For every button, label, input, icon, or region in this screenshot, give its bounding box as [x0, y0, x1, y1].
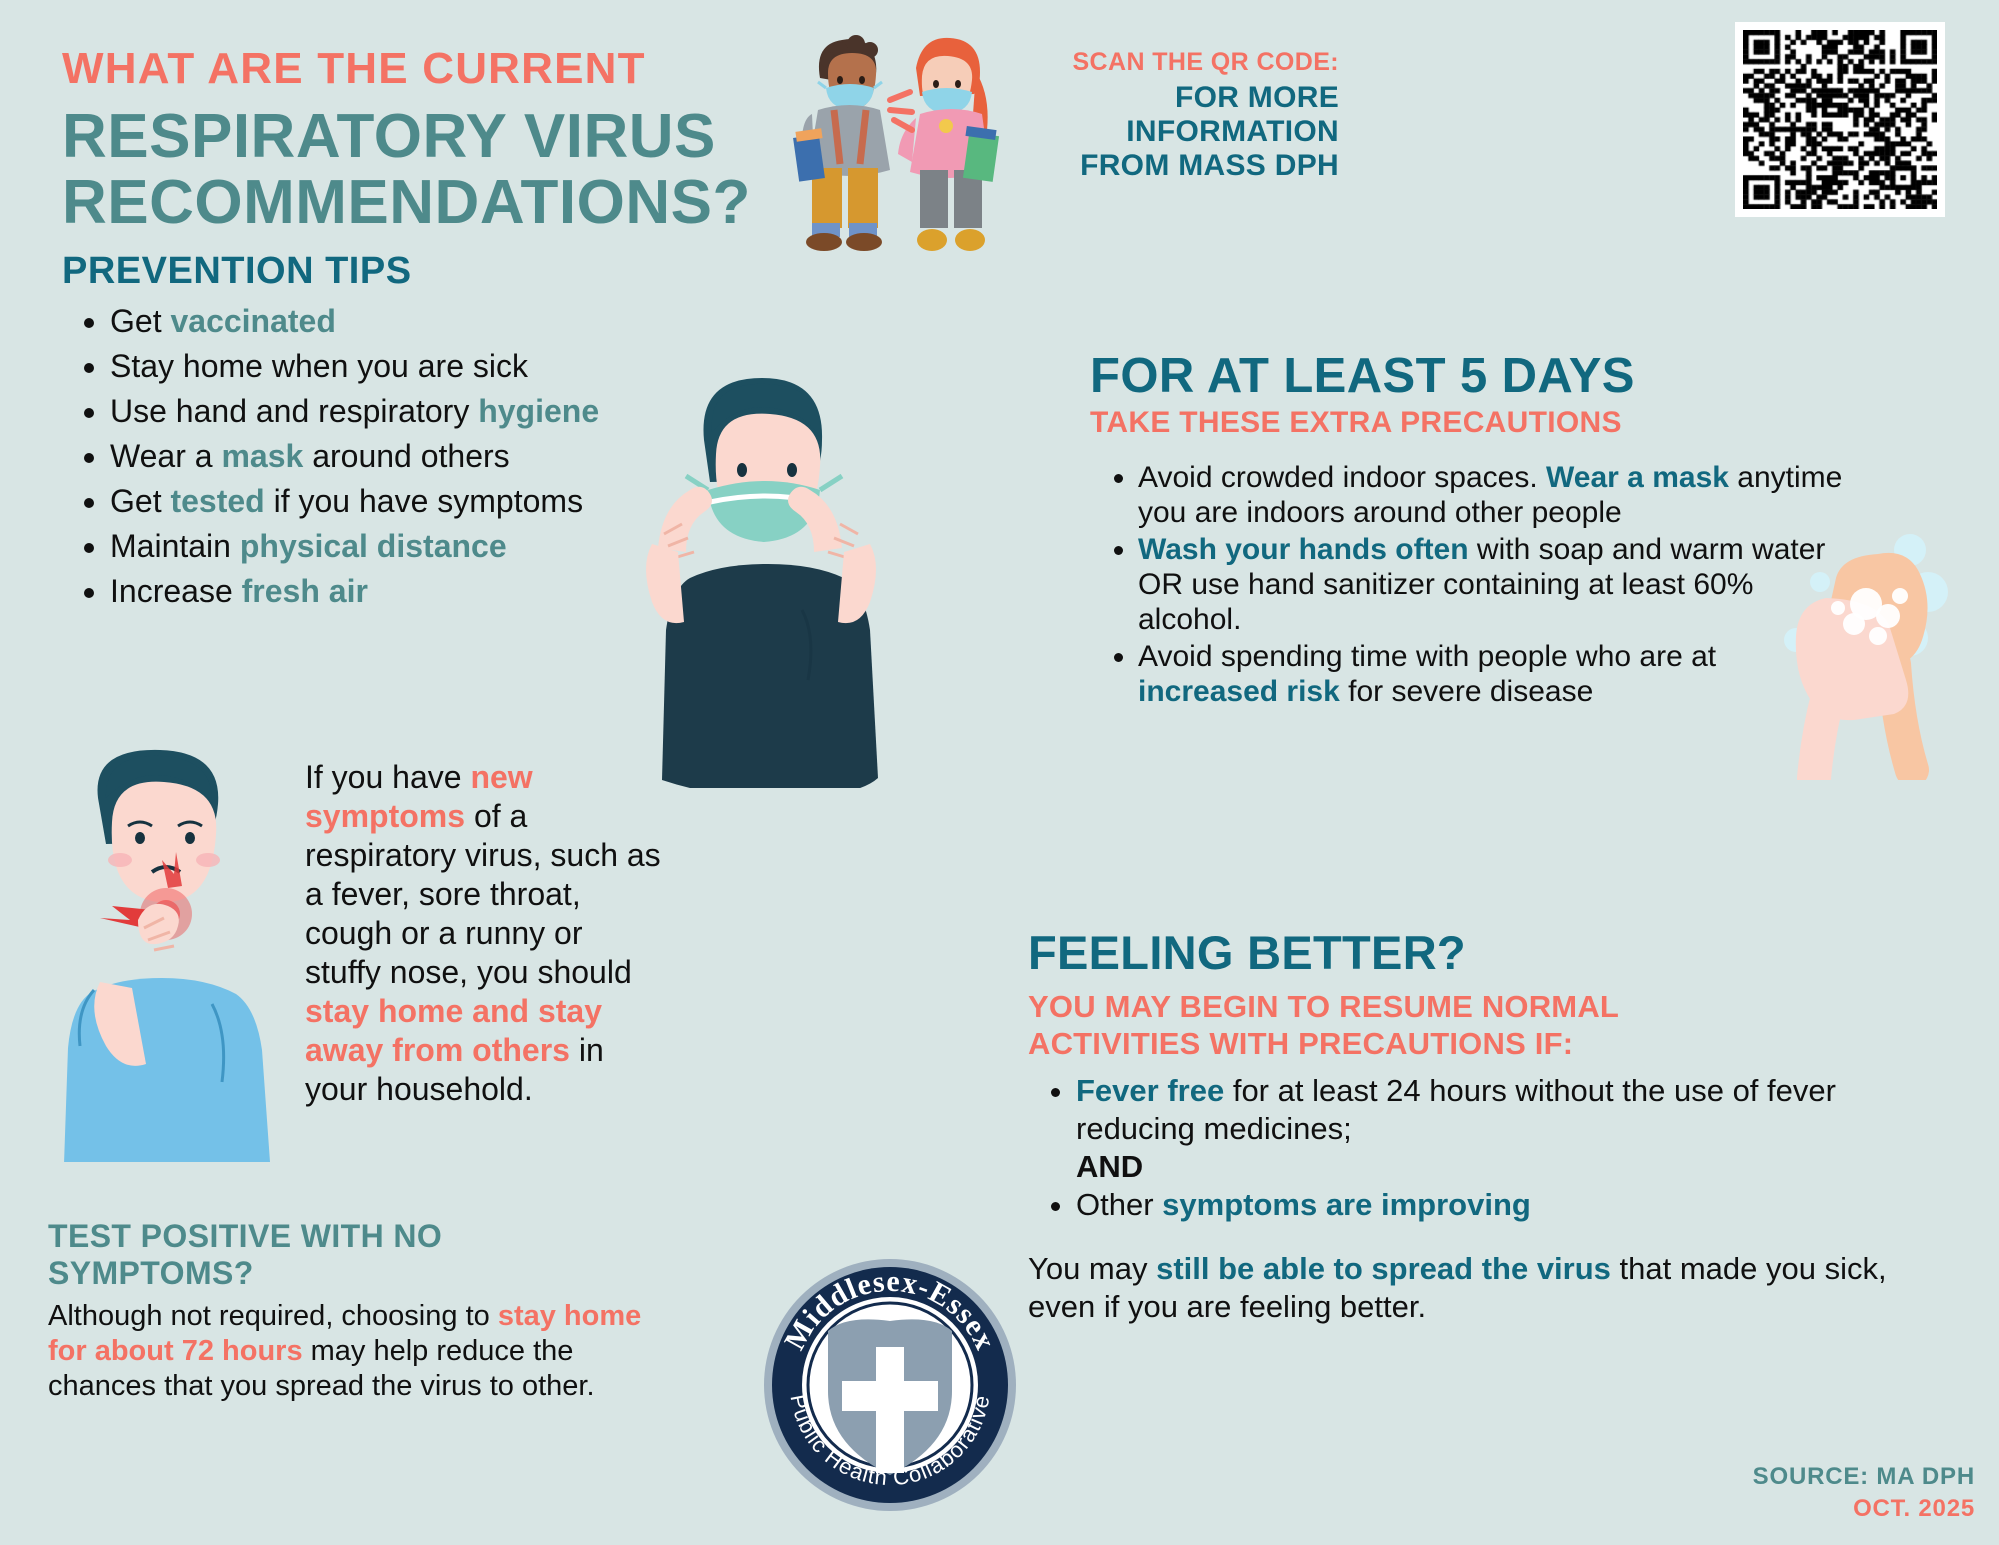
prevention-list-item: Use hand and respiratory hygiene [110, 391, 702, 431]
washing-hands-illustration [1760, 520, 1985, 780]
five-days-list: Avoid crowded indoor spaces. Wear a mask… [1090, 460, 1850, 709]
emphasis: physical distance [240, 528, 507, 564]
emphasis: Wash your hands often [1138, 533, 1469, 566]
emphasis: Fever free [1076, 1073, 1224, 1108]
prevention-heading: PREVENTION TIPS [62, 250, 702, 293]
emphasis: symptoms are improving [1162, 1187, 1531, 1222]
feeling-better-list: Fever free for at least 24 hours without… [1028, 1072, 1908, 1224]
emphasis: stay home for about 72 hours [48, 1300, 641, 1367]
test-positive-heading: TEST POSITIVE WITH NO SYMPTOMS? [48, 1218, 668, 1292]
feeling-better-section: FEELING BETTER? YOU MAY BEGIN TO RESUME … [1028, 925, 1908, 1326]
qr-info-line-2: INFORMATION [999, 115, 1339, 149]
feeling-better-heading: FEELING BETTER? [1028, 925, 1908, 980]
feeling-better-subheading: YOU MAY BEGIN TO RESUME NORMAL ACTIVITIE… [1028, 988, 1908, 1062]
prevention-list-item: Maintain physical distance [110, 526, 702, 566]
source-line-1: SOURCE: MA DPH [1753, 1463, 1975, 1491]
infographic-poster: WHAT ARE THE CURRENT RESPIRATORY VIRUS R… [0, 0, 1999, 1545]
qr-instruction-text: SCAN THE QR CODE: FOR MORE INFORMATION F… [999, 48, 1339, 183]
five-days-list-item: Wash your hands often with soap and warm… [1138, 532, 1850, 637]
conjunction-and: AND [1076, 1149, 1143, 1184]
five-days-list-item: Avoid spending time with people who are … [1138, 639, 1850, 709]
emphasis: mask [221, 438, 303, 474]
emphasis: Wear a mask [1546, 461, 1729, 494]
emphasis: tested [170, 483, 264, 519]
five-days-heading: FOR AT LEAST 5 DAYS [1090, 348, 1850, 404]
qr-info-text: FOR MORE INFORMATION FROM MASS DPH [999, 81, 1339, 183]
test-positive-section: TEST POSITIVE WITH NO SYMPTOMS? Although… [48, 1218, 668, 1404]
feeling-better-closing-text: You may still be able to spread the viru… [1028, 1250, 1908, 1326]
symptoms-paragraph: If you have new symptoms of a respirator… [305, 758, 665, 1109]
emphasis: vaccinated [170, 303, 335, 339]
prevention-tips-section: PREVENTION TIPS Get vaccinatedStay home … [62, 250, 702, 616]
prevention-list-item: Get tested if you have symptoms [110, 481, 702, 521]
qr-info-line-1: FOR MORE [999, 81, 1339, 115]
test-positive-body: Although not required, choosing to stay … [48, 1299, 668, 1404]
two-students-masks-illustration [770, 18, 1020, 263]
emphasis: new symptoms [305, 759, 533, 834]
prevention-list: Get vaccinatedStay home when you are sic… [62, 301, 702, 611]
emphasis: stay home and stay away from others [305, 993, 602, 1068]
source-line-2: OCT. 2025 [1753, 1495, 1975, 1523]
emphasis: hygiene [478, 393, 599, 429]
test-positive-heading-line-2: SYMPTOMS? [48, 1255, 254, 1291]
boy-with-sore-throat-illustration [40, 742, 290, 1162]
emphasis: increased risk [1138, 675, 1340, 708]
source-credit: SOURCE: MA DPH OCT. 2025 [1753, 1463, 1975, 1523]
middlesex-essex-public-health-collaborative-logo: Middlesex-Essex Public Health Collaborat… [760, 1255, 1020, 1515]
prevention-list-item: Stay home when you are sick [110, 346, 702, 386]
boy-putting-on-mask-illustration [630, 358, 895, 788]
prevention-list-item: Get vaccinated [110, 301, 702, 341]
emphasis: still be able to spread the virus [1156, 1251, 1611, 1286]
qr-code-canvas [1743, 30, 1937, 209]
feeling-better-list-item: Other symptoms are improving [1076, 1186, 1908, 1224]
test-positive-heading-line-1: TEST POSITIVE WITH NO [48, 1218, 442, 1254]
prevention-list-item: Increase fresh air [110, 571, 702, 611]
feeling-better-subheading-line-1: YOU MAY BEGIN TO RESUME NORMAL [1028, 989, 1619, 1024]
qr-scan-label: SCAN THE QR CODE: [999, 48, 1339, 77]
feeling-better-list-item: Fever free for at least 24 hours without… [1076, 1072, 1908, 1186]
five-days-precautions-section: FOR AT LEAST 5 DAYS TAKE THESE EXTRA PRE… [1090, 348, 1850, 711]
five-days-list-item: Avoid crowded indoor spaces. Wear a mask… [1138, 460, 1850, 530]
prevention-list-item: Wear a mask around others [110, 436, 702, 476]
emphasis: fresh air [242, 573, 368, 609]
feeling-better-subheading-line-2: ACTIVITIES WITH PRECAUTIONS IF: [1028, 1026, 1573, 1061]
qr-info-line-3: FROM MASS DPH [999, 149, 1339, 183]
five-days-subheading: TAKE THESE EXTRA PRECAUTIONS [1090, 406, 1850, 440]
qr-code-icon[interactable] [1735, 22, 1945, 217]
